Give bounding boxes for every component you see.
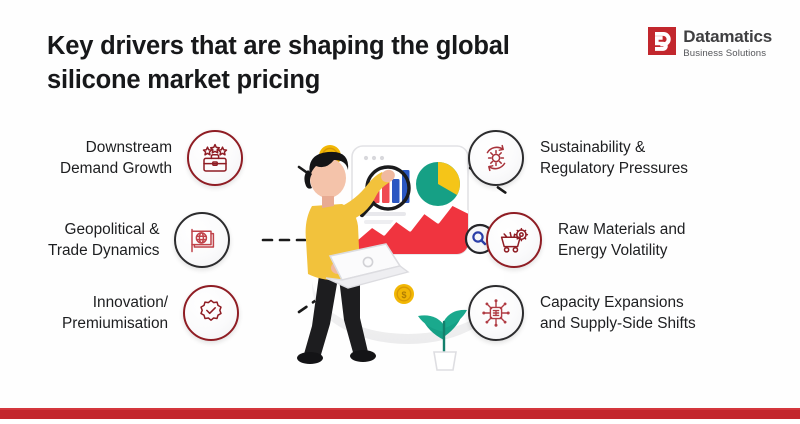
drivers-left-column: Downstream Demand Growth Geopolitical bbox=[0, 0, 300, 419]
globe-flag-icon[interactable] bbox=[174, 212, 230, 268]
drivers-right-column: Sustainability & Regulatory Pressures bbox=[470, 0, 800, 419]
dollar-coin-icon: $ bbox=[394, 284, 414, 304]
driver-label: Raw Materials and Energy Volatility bbox=[558, 219, 685, 262]
driver-downstream-demand-growth[interactable]: Downstream Demand Growth bbox=[60, 130, 243, 186]
driver-label: Downstream Demand Growth bbox=[60, 137, 172, 180]
driver-sustainability-regulatory-pressures[interactable]: Sustainability & Regulatory Pressures bbox=[468, 130, 688, 186]
pie-chart-icon bbox=[416, 162, 460, 206]
driver-innovation-premiumisation[interactable]: Innovation/ Premiumisation bbox=[62, 285, 239, 341]
briefcase-stars-icon[interactable] bbox=[187, 130, 243, 186]
mining-cart-gear-icon[interactable] bbox=[486, 212, 542, 268]
driver-label: Innovation/ Premiumisation bbox=[62, 292, 168, 335]
svg-text:$: $ bbox=[401, 290, 406, 300]
bottom-accent-bar bbox=[0, 408, 800, 419]
driver-raw-materials-energy-volatility[interactable]: Raw Materials and Energy Volatility bbox=[486, 212, 685, 268]
badge-check-icon[interactable] bbox=[183, 285, 239, 341]
driver-label: Geopolitical & Trade Dynamics bbox=[48, 219, 159, 262]
driver-label: Sustainability & Regulatory Pressures bbox=[540, 137, 688, 180]
gear-recycle-icon[interactable] bbox=[468, 130, 524, 186]
chip-network-icon[interactable] bbox=[468, 285, 524, 341]
driver-label: Capacity Expansions and Supply-Side Shif… bbox=[540, 292, 696, 335]
bottom-accent-highlight bbox=[0, 408, 800, 410]
infographic-canvas: Key drivers that are shaping the global … bbox=[0, 0, 800, 419]
driver-geopolitical-trade-dynamics[interactable]: Geopolitical & Trade Dynamics bbox=[48, 212, 230, 268]
driver-capacity-expansions-supply-side-shifts[interactable]: Capacity Expansions and Supply-Side Shif… bbox=[468, 285, 696, 341]
